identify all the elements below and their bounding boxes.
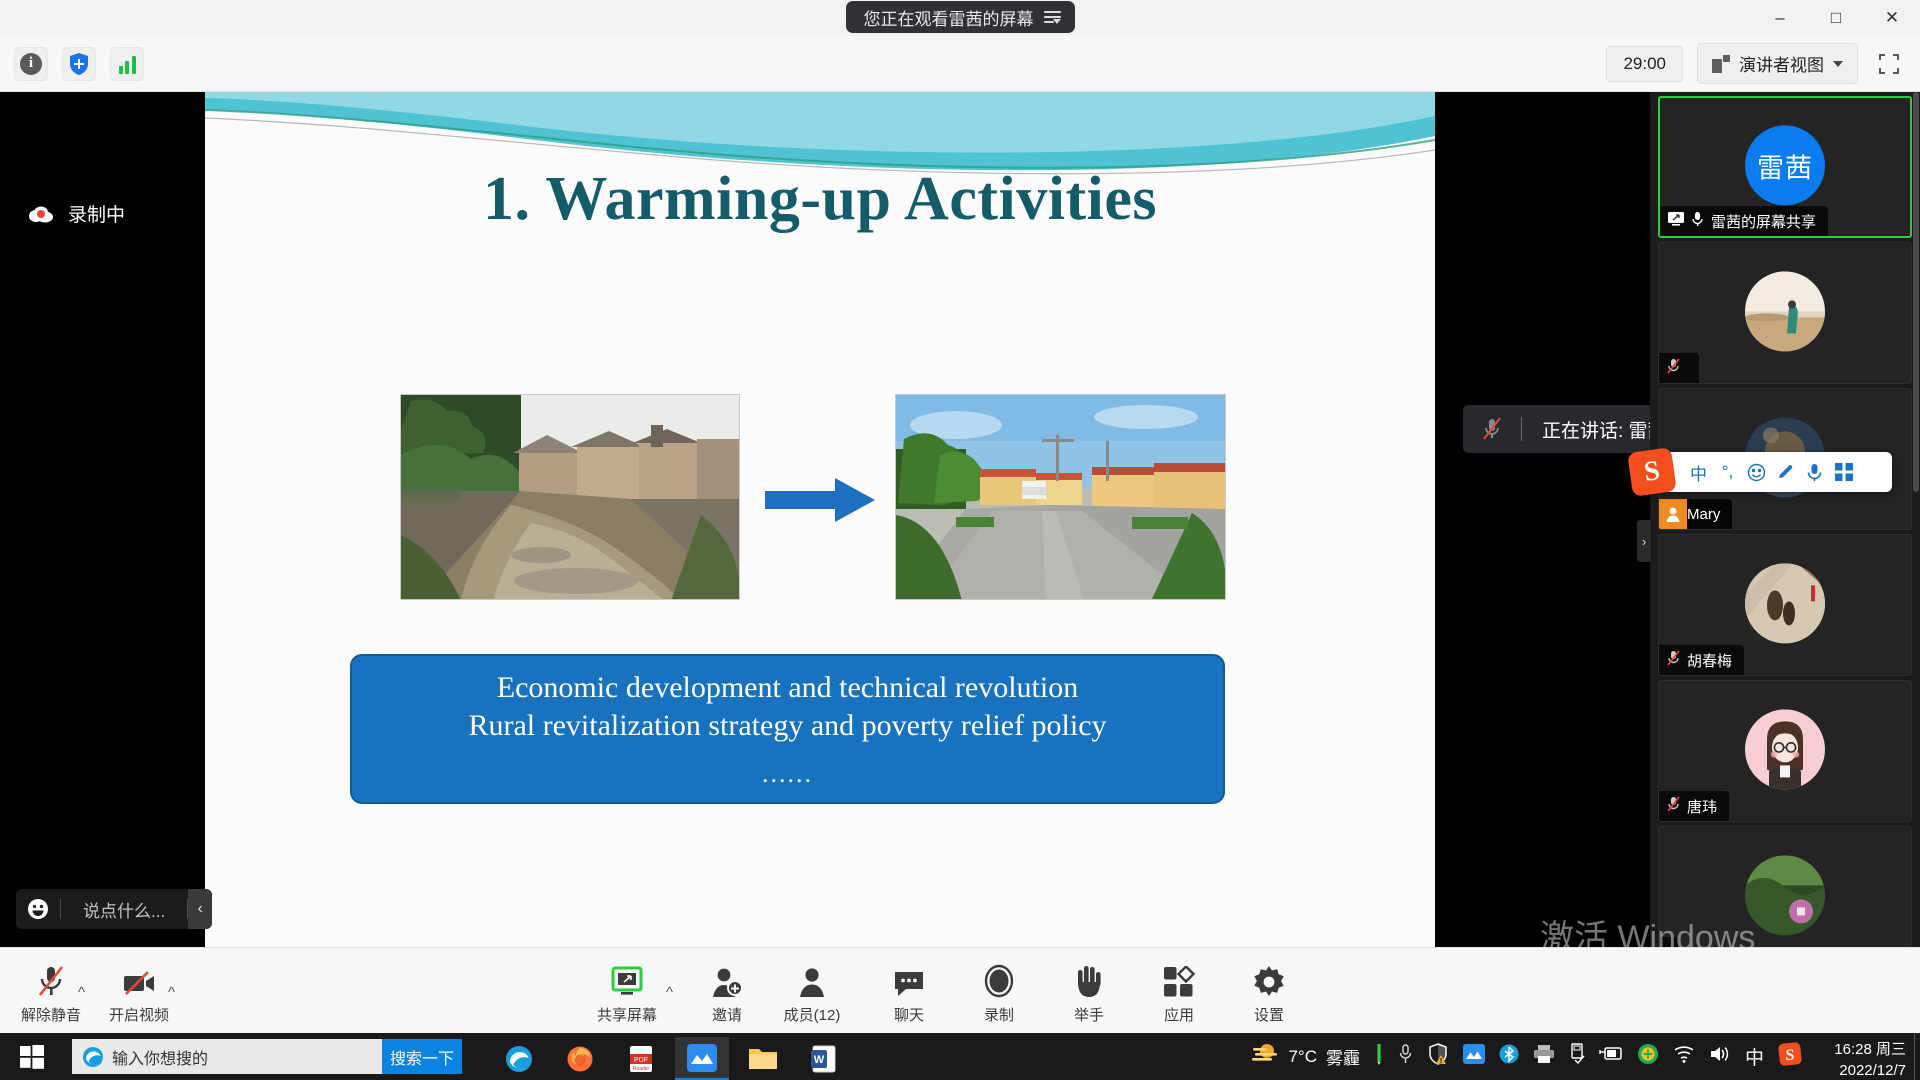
emoji-icon[interactable] xyxy=(1742,463,1771,482)
maximize-button[interactable]: □ xyxy=(1808,0,1864,36)
avatar xyxy=(1745,271,1825,351)
screen-root: 您正在观看雷茜的屏幕 – □ ✕ i 29:00 演讲者视图 xyxy=(0,0,1920,1080)
toolbox-icon[interactable] xyxy=(1829,463,1858,481)
signal-bars-icon[interactable] xyxy=(110,47,144,81)
chat-input[interactable]: 说点什么... xyxy=(61,897,187,922)
voice-input-icon[interactable] xyxy=(1800,463,1829,482)
minimize-button[interactable]: – xyxy=(1752,0,1808,36)
recording-label: 录制中 xyxy=(68,200,125,227)
participant-tile-0[interactable]: 雷茜 雷茜的屏幕共享 xyxy=(1658,96,1912,238)
participant-label-4: 唐玮 xyxy=(1659,791,1729,821)
antivirus-icon[interactable] xyxy=(1637,1043,1659,1070)
avatar xyxy=(1745,709,1825,789)
apps-label: 应用 xyxy=(1164,1004,1194,1025)
windows-taskbar: 输入你想搜的 搜索一下 PDFReader W 7°C 雾霾 xyxy=(0,1033,1920,1080)
unmute-label: 解除静音 xyxy=(21,1004,81,1025)
after-photo xyxy=(895,394,1226,600)
record-label: 录制 xyxy=(984,1004,1014,1025)
participant-label-0: 雷茜的屏幕共享 xyxy=(1660,206,1828,236)
search-go-button[interactable]: 搜索一下 xyxy=(382,1039,462,1074)
info-glyph: i xyxy=(20,53,42,75)
callout-line-2: Rural revitalization strategy and povert… xyxy=(468,707,1106,745)
chat-collapse-button[interactable]: ‹ xyxy=(188,889,212,929)
clock-time: 16:28 周三 xyxy=(1834,1039,1906,1060)
share-banner-text: 您正在观看雷茜的屏幕 xyxy=(864,5,1034,30)
weather-widget[interactable]: 7°C 雾霾 xyxy=(1251,1042,1360,1071)
slide-title: 1. Warming-up Activities xyxy=(205,164,1435,235)
share-screen-label: 共享屏幕 xyxy=(597,1004,657,1025)
mic-on-icon xyxy=(1691,211,1704,231)
participant-tile-4[interactable]: 唐玮 xyxy=(1658,680,1912,822)
before-photo xyxy=(400,394,740,600)
screen-share-banner[interactable]: 您正在观看雷茜的屏幕 xyxy=(846,1,1075,33)
settings-button[interactable]: 设置 xyxy=(1226,960,1312,1025)
view-mode-label: 演讲者视图 xyxy=(1739,51,1824,76)
windows-start-icon[interactable] xyxy=(8,1033,56,1080)
clock-date: 2022/12/7 xyxy=(1834,1060,1906,1080)
raise-hand-button[interactable]: 举手 xyxy=(1046,960,1132,1025)
shared-screen-stage: 录制中 1. Warming-up Activities xyxy=(0,92,1650,947)
invite-person-icon xyxy=(711,960,743,998)
callout-line-3: ...... xyxy=(762,759,813,789)
audio-options-chevron-icon[interactable]: ^ xyxy=(78,984,85,1001)
pen-icon[interactable] xyxy=(1374,1043,1384,1070)
bluetooth-icon[interactable] xyxy=(1499,1044,1519,1069)
participant-name-4: 唐玮 xyxy=(1687,796,1717,817)
invite-label: 邀请 xyxy=(712,1004,742,1025)
haze-sun-icon xyxy=(1251,1042,1279,1071)
hamburger-menu-icon[interactable] xyxy=(1044,11,1061,23)
participant-rail: 雷茜 雷茜的屏幕共享 xyxy=(1650,92,1920,947)
avatar xyxy=(1745,563,1825,643)
record-icon xyxy=(983,960,1015,998)
mic-muted-icon xyxy=(1667,358,1680,378)
presentation-slide: 1. Warming-up Activities xyxy=(205,92,1435,947)
mic-muted-icon xyxy=(1463,416,1521,442)
show-desktop-button[interactable] xyxy=(1914,1033,1920,1080)
participant-name-0: 雷茜的屏幕共享 xyxy=(1711,211,1816,232)
chinese-mode-icon[interactable]: 中 xyxy=(1684,460,1713,485)
callout-line-1: Economic development and technical revol… xyxy=(497,669,1078,707)
screen-share-icon xyxy=(610,960,644,998)
cloud-record-icon xyxy=(28,205,54,223)
power-plug-icon[interactable] xyxy=(1599,1045,1623,1068)
participant-label-3: 胡春梅 xyxy=(1659,645,1744,675)
raise-hand-label: 举手 xyxy=(1074,1004,1104,1025)
close-button[interactable]: ✕ xyxy=(1864,0,1920,36)
window-title-bar: 您正在观看雷茜的屏幕 – □ ✕ xyxy=(0,0,1920,36)
chat-button[interactable]: 聊天 xyxy=(866,960,952,1025)
taskbar-file-explorer-icon[interactable] xyxy=(736,1037,790,1080)
svg-text:PDF: PDF xyxy=(634,1057,648,1064)
top-toolbar-right: 29:00 演讲者视图 xyxy=(1606,43,1906,84)
signal-glyph xyxy=(119,54,136,74)
ime-chinese-icon[interactable]: 中 xyxy=(1745,1043,1764,1070)
mic-muted-icon xyxy=(36,960,66,998)
participant-tile-1[interactable] xyxy=(1658,242,1912,384)
participants-label: 成员(12) xyxy=(784,1004,841,1025)
rail-scrollbar[interactable] xyxy=(1913,92,1919,947)
svg-text:S: S xyxy=(1786,1047,1795,1064)
sogou-tray-icon[interactable]: S xyxy=(1778,1042,1802,1071)
share-options-chevron-icon[interactable]: ^ xyxy=(666,984,673,1001)
window-controls: – □ ✕ xyxy=(1752,0,1920,36)
taskbar-word-icon[interactable]: W xyxy=(797,1037,851,1080)
handwriting-icon[interactable] xyxy=(1771,463,1800,482)
right-arrow-icon xyxy=(765,478,875,522)
taskbar-meeting-app-icon[interactable] xyxy=(675,1037,729,1080)
taskbar-firefox-icon[interactable] xyxy=(553,1037,607,1080)
shield-glyph xyxy=(68,52,90,76)
weather-temp: 7°C xyxy=(1288,1047,1317,1067)
gear-icon xyxy=(1253,960,1285,998)
edge-browser-icon xyxy=(72,1046,104,1068)
participant-label-1 xyxy=(1659,353,1699,383)
fullscreen-icon[interactable] xyxy=(1872,47,1906,81)
view-mode-selector[interactable]: 演讲者视图 xyxy=(1697,43,1858,84)
participants-button[interactable]: 成员(12) xyxy=(769,960,855,1025)
taskbar-pdf-reader-icon[interactable]: PDFReader xyxy=(614,1037,668,1080)
camera-off-icon xyxy=(122,960,156,998)
mic-muted-icon xyxy=(1667,650,1680,670)
avatar-initials: 雷茜 xyxy=(1757,146,1813,185)
taskbar-clock[interactable]: 16:28 周三 2022/12/7 xyxy=(1834,1039,1906,1080)
start-video-label: 开启视频 xyxy=(109,1004,169,1025)
participant-tile-3[interactable]: 胡春梅 xyxy=(1658,534,1912,676)
mic-muted-icon xyxy=(1667,796,1680,816)
apps-icon xyxy=(1163,960,1195,998)
participant-name-2: Mary xyxy=(1687,506,1720,523)
participant-name-3: 胡春梅 xyxy=(1687,650,1732,671)
svg-text:W: W xyxy=(814,1054,825,1066)
chat-label: 聊天 xyxy=(894,1004,924,1025)
avatar: 雷茜 xyxy=(1745,125,1825,205)
emoji-icon[interactable] xyxy=(16,898,60,920)
rail-collapse-button[interactable]: › xyxy=(1637,520,1651,562)
screen-share-icon xyxy=(1668,212,1684,230)
chevron-down-icon[interactable] xyxy=(1833,61,1843,67)
taskbar-edge-icon[interactable] xyxy=(492,1037,546,1080)
chat-bubble-icon xyxy=(893,960,925,998)
volume-icon[interactable] xyxy=(1709,1044,1731,1069)
participants-icon xyxy=(796,960,828,998)
share-screen-button[interactable]: 共享屏幕 xyxy=(584,960,670,1025)
info-icon[interactable]: i xyxy=(14,47,48,81)
microphone-icon[interactable] xyxy=(1398,1043,1413,1070)
svg-text:Reader: Reader xyxy=(633,1066,650,1072)
search-input[interactable]: 输入你想搜的 xyxy=(104,1045,208,1069)
meeting-bottom-toolbar: 解除静音 ^ 开启视频 ^ 共享屏幕 ^ 邀请 成员(1 xyxy=(0,947,1920,1033)
taskbar-search-box[interactable]: 输入你想搜的 搜索一下 xyxy=(72,1039,462,1074)
user-badge-icon xyxy=(1659,499,1687,529)
invite-button[interactable]: 邀请 xyxy=(684,960,770,1025)
slide-callout-box: Economic development and technical revol… xyxy=(350,654,1225,804)
raise-hand-icon xyxy=(1074,960,1104,998)
recording-indicator: 录制中 xyxy=(28,200,125,227)
record-button[interactable]: 录制 xyxy=(956,960,1042,1025)
meeting-tray-icon[interactable] xyxy=(1463,1044,1485,1069)
sogou-logo-text: S xyxy=(1642,455,1662,489)
apps-button[interactable]: 应用 xyxy=(1136,960,1222,1025)
shield-plus-icon[interactable] xyxy=(62,47,96,81)
video-options-chevron-icon[interactable]: ^ xyxy=(168,984,175,1001)
meeting-top-toolbar: i 29:00 演讲者视图 xyxy=(0,36,1920,92)
meeting-timer: 29:00 xyxy=(1606,46,1683,82)
sogou-ime-toolbar[interactable]: S 中 °, xyxy=(1638,452,1892,492)
usb-device-icon[interactable] xyxy=(1569,1043,1585,1070)
sogou-logo-icon[interactable]: S xyxy=(1627,447,1677,497)
settings-label: 设置 xyxy=(1254,1004,1284,1025)
system-tray: 7°C 雾霾 xyxy=(1251,1033,1802,1080)
security-warning-icon[interactable] xyxy=(1427,1043,1449,1070)
chat-entry-bar[interactable]: 说点什么... ‹ xyxy=(16,889,212,929)
wifi-icon[interactable] xyxy=(1673,1044,1695,1069)
weather-desc: 雾霾 xyxy=(1326,1044,1360,1069)
printer-icon[interactable] xyxy=(1533,1044,1555,1069)
punctuation-icon[interactable]: °, xyxy=(1713,462,1742,482)
layout-icon xyxy=(1712,55,1730,73)
